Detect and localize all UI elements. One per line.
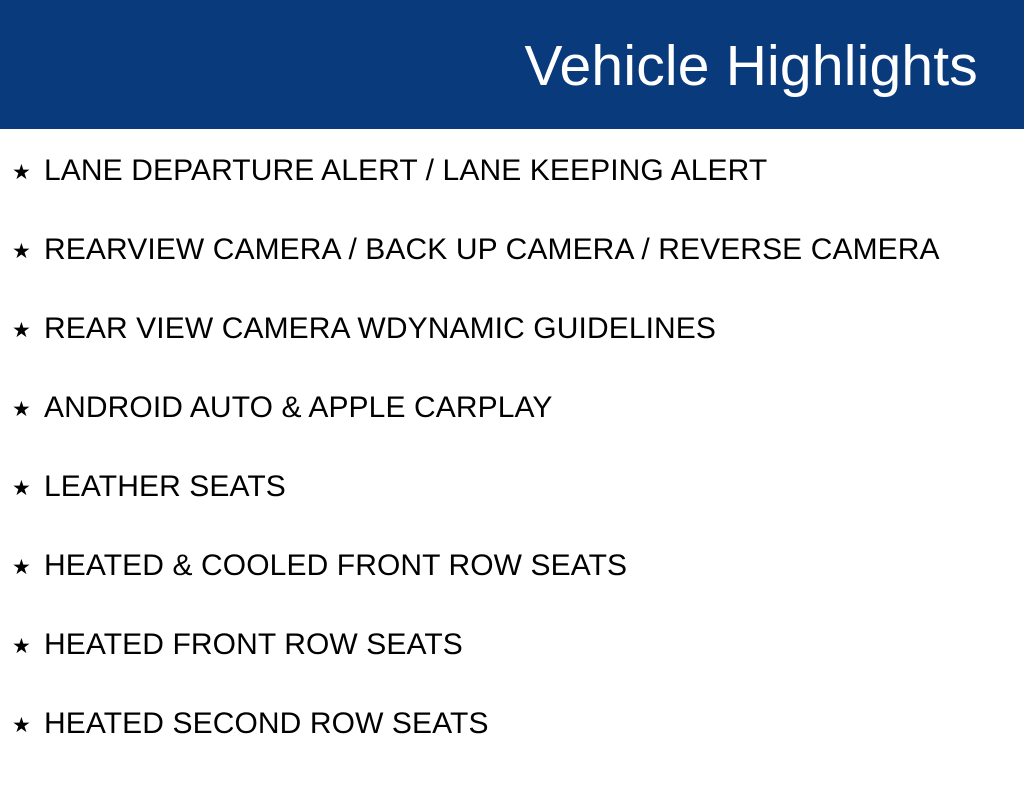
header-banner: Vehicle Highlights xyxy=(0,0,1024,129)
list-item: ★ REAR VIEW CAMERA WDYNAMIC GUIDELINES xyxy=(0,314,1024,393)
highlight-label: HEATED & COOLED FRONT ROW SEATS xyxy=(44,551,1024,581)
star-bullet-icon: ★ xyxy=(12,557,44,578)
list-item: ★ LEATHER SEATS xyxy=(0,472,1024,551)
highlight-label: HEATED FRONT ROW SEATS xyxy=(44,630,1024,660)
highlight-label: ANDROID AUTO & APPLE CARPLAY xyxy=(44,393,1024,423)
vehicle-highlights-slide: Vehicle Highlights ★ LANE DEPARTURE ALER… xyxy=(0,0,1024,768)
list-item: ★ REARVIEW CAMERA / BACK UP CAMERA / REV… xyxy=(0,235,1024,314)
list-item: ★ HEATED & COOLED FRONT ROW SEATS xyxy=(0,551,1024,630)
star-bullet-icon: ★ xyxy=(12,478,44,499)
highlight-label: LEATHER SEATS xyxy=(44,472,1024,502)
highlight-label: REAR VIEW CAMERA WDYNAMIC GUIDELINES xyxy=(44,314,1024,344)
star-bullet-icon: ★ xyxy=(12,241,44,262)
star-bullet-icon: ★ xyxy=(12,399,44,420)
star-bullet-icon: ★ xyxy=(12,162,44,183)
highlight-label: HEATED SECOND ROW SEATS xyxy=(44,709,1024,739)
highlight-label: REARVIEW CAMERA / BACK UP CAMERA / REVER… xyxy=(44,235,1024,265)
list-item: ★ LANE DEPARTURE ALERT / LANE KEEPING AL… xyxy=(0,129,1024,235)
list-item: ★ HEATED FRONT ROW SEATS xyxy=(0,630,1024,709)
star-bullet-icon: ★ xyxy=(12,636,44,657)
list-item: ★ ANDROID AUTO & APPLE CARPLAY xyxy=(0,393,1024,472)
list-item: ★ HEATED SECOND ROW SEATS xyxy=(0,709,1024,788)
highlight-label: LANE DEPARTURE ALERT / LANE KEEPING ALER… xyxy=(44,156,1024,186)
star-bullet-icon: ★ xyxy=(12,320,44,341)
vehicle-highlights-list: ★ LANE DEPARTURE ALERT / LANE KEEPING AL… xyxy=(0,129,1024,788)
star-bullet-icon: ★ xyxy=(12,715,44,736)
page-title: Vehicle Highlights xyxy=(524,37,978,97)
